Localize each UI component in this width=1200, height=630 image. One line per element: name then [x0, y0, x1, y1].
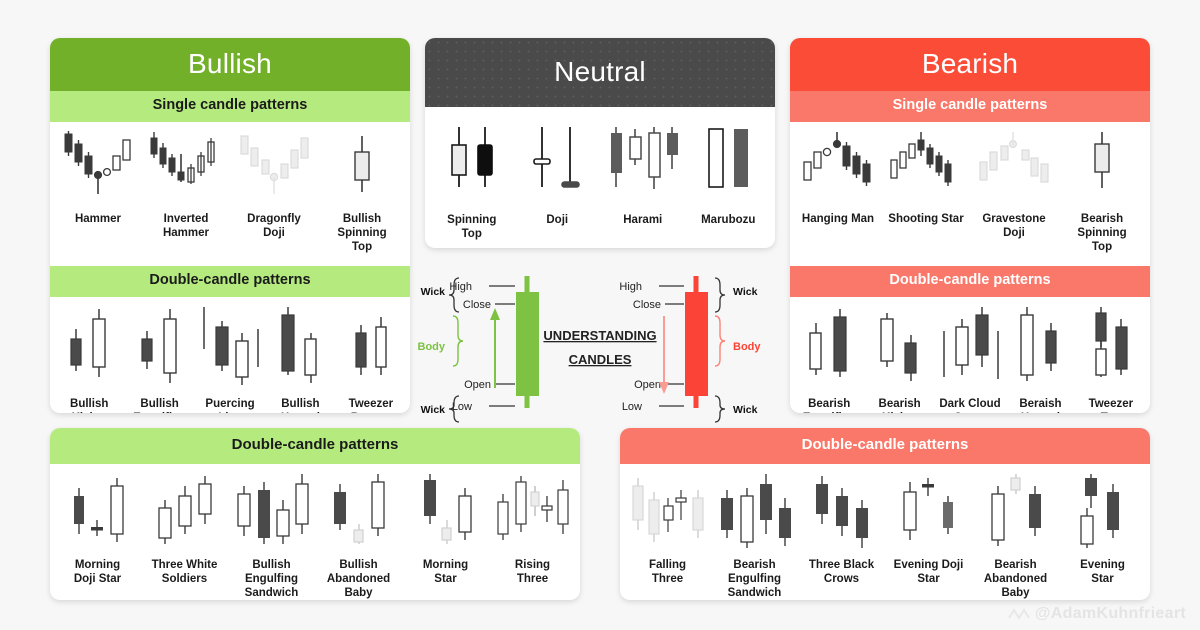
pattern-shooting-star[interactable]: Shooting Star [882, 130, 970, 226]
beraish-harami-icon [1010, 305, 1070, 393]
evening-doji-star-icon [896, 472, 962, 554]
pattern-hammer[interactable]: Hammer [54, 130, 142, 226]
shooting-star-icon [887, 130, 965, 208]
row-bullish-double: Bullish Kicker Bullish Engulfing [50, 297, 410, 413]
pattern-label: Bullish Engulfing Sandwich [228, 558, 315, 600]
row-neutral: Spinning Top Doji [425, 107, 775, 248]
evening-star-icon [1073, 472, 1133, 554]
pattern-bearish-engulfing-sandwich[interactable]: Bearish Engulfing Sandwich [711, 472, 798, 600]
uc-right-wick-top: Wick [733, 286, 758, 298]
row-bullish-single: Hammer [50, 122, 410, 266]
pattern-label: Dragonfly Doji [247, 212, 301, 240]
pattern-label: Evening Star [1080, 558, 1125, 586]
pattern-bearish-engulfing[interactable]: Bearish Engulfing [794, 305, 864, 413]
panel-title-bullish: Bullish [50, 38, 410, 91]
dark-cloud-cover-icon [936, 305, 1004, 393]
gravestone-doji-icon [975, 130, 1053, 208]
bullish-engulfing-sandwich-icon [232, 472, 312, 554]
pattern-label: Bearish Abandoned Baby [972, 558, 1059, 600]
bearish-spinning-top-icon [1072, 130, 1132, 208]
pattern-bearish-spinning-top[interactable]: Bearish Spinning Top [1058, 130, 1146, 254]
row-bearish-single: Hanging Man [790, 122, 1150, 266]
panel-bearish-triple: Double-candle patterns Falling Three [620, 428, 1150, 600]
dragonfly-doji-icon [235, 130, 313, 208]
pattern-label: Marubozu [701, 213, 755, 227]
band-bearish-single: Single candle patterns [790, 91, 1150, 122]
puercing-line-icon [196, 305, 264, 393]
pattern-bullish-engulfing[interactable]: Bullish Engulfing [124, 305, 194, 413]
pattern-morning-doji-star[interactable]: Morning Doji Star [54, 472, 141, 586]
bullish-abandoned-baby-icon [326, 472, 392, 554]
band-bullish-single: Single candle patterns [50, 91, 410, 122]
pattern-beraish-harami[interactable]: Beraish Harami [1005, 305, 1075, 413]
pattern-label: Shooting Star [888, 212, 963, 226]
pattern-label: Bearish Engulfing Sandwich [711, 558, 798, 600]
uc-right-high: High [619, 281, 642, 293]
pattern-label: Puercing Line [205, 397, 254, 413]
pattern-label: Beraish Harami [1019, 397, 1061, 413]
pattern-label: Bearish Spinning Top [1077, 212, 1126, 254]
uc-left-body: Body [418, 341, 446, 353]
uc-right-body: Body [733, 341, 761, 353]
pattern-label: Bullish Abandoned Baby [315, 558, 402, 600]
uc-left-close: Close [463, 299, 491, 311]
pattern-label: Bearish Kicker [879, 397, 921, 413]
pattern-label: Harami [623, 213, 662, 227]
spinning-top-icon [437, 123, 507, 209]
pattern-harami[interactable]: Harami [600, 123, 686, 227]
panel-neutral: Neutral Spinning Top Doji [425, 38, 775, 248]
pattern-marubozu[interactable]: Marubozu [686, 123, 772, 227]
pattern-label: Inverted Hammer [163, 212, 209, 240]
pattern-label: Tweezer Top [1089, 397, 1134, 413]
panel-bearish: Bearish Single candle patterns [790, 38, 1150, 413]
uc-right-low: Low [622, 401, 642, 413]
uc-left-wick-top: Wick [421, 286, 446, 298]
uc-left-low: Low [452, 401, 472, 413]
pattern-dark-cloud-cover[interactable]: Dark Cloud Cover [935, 305, 1005, 413]
tweezer-bottom-icon [343, 305, 399, 393]
uc-left-open: Open [464, 379, 491, 391]
pattern-tweezer-bottom[interactable]: Tweezer Bottom [336, 305, 406, 413]
watermark: @AdamKuhnfrieart [1008, 605, 1186, 623]
pattern-label: Morning Doji Star [74, 558, 121, 586]
uc-left-wick-bottom: Wick [421, 404, 446, 416]
uc-title-1: UNDERSTANDING [543, 328, 656, 343]
pattern-evening-star[interactable]: Evening Star [1059, 472, 1146, 586]
band-bullish-double: Double-candle patterns [50, 266, 410, 297]
bullish-engulfing-icon [130, 305, 190, 393]
bearish-kicker-icon [870, 305, 930, 393]
uc-right-open: Open [634, 379, 661, 391]
panel-bullish-triple: Double-candle patterns Morning Doji Star [50, 428, 580, 600]
pattern-label: Dark Cloud Cover [939, 397, 1000, 413]
pattern-bullish-spinning-top[interactable]: Bullish Spinning Top [318, 130, 406, 254]
pattern-label: Bullish Kicker [70, 397, 108, 413]
pattern-label: Tweezer Bottom [349, 397, 394, 413]
pattern-label: Rising Three [515, 558, 550, 586]
pattern-morning-star[interactable]: Morning Star [402, 472, 489, 586]
pattern-label: Bullish Spinning Top [337, 212, 386, 254]
pattern-puercing-line[interactable]: Puercing Line [195, 305, 265, 413]
marubozu-icon [697, 123, 759, 209]
inverted-hammer-icon [147, 130, 225, 208]
three-white-soldiers-icon [152, 472, 218, 554]
tweezer-top-icon [1083, 305, 1139, 393]
pattern-label: Bullish Harami [281, 397, 320, 413]
pattern-bullish-abandoned-baby[interactable]: Bullish Abandoned Baby [315, 472, 402, 600]
bullish-spinning-top-icon [332, 130, 392, 208]
pattern-gravestone-doji[interactable]: Gravestone Doji [970, 130, 1058, 240]
pattern-label: Evening Doji Star [894, 558, 964, 586]
mountain-logo-icon [1008, 607, 1030, 621]
pattern-falling-three[interactable]: Falling Three [624, 472, 711, 586]
pattern-bullish-engulfing-sandwich[interactable]: Bullish Engulfing Sandwich [228, 472, 315, 600]
pattern-tweezer-top[interactable]: Tweezer Top [1076, 305, 1146, 413]
pattern-rising-three[interactable]: Rising Three [489, 472, 576, 586]
pattern-evening-doji-star[interactable]: Evening Doji Star [885, 472, 972, 586]
understanding-candles-diagram: High Close Open Low Wick Wick Body UNDER… [415, 268, 785, 428]
pattern-spinning-top[interactable]: Spinning Top [429, 123, 515, 241]
pattern-label: Three White Soldiers [152, 558, 218, 586]
bullish-kicker-icon [59, 305, 119, 393]
pattern-label: Morning Star [423, 558, 468, 586]
bearish-abandoned-baby-icon [983, 472, 1049, 554]
harami-icon [605, 123, 681, 209]
three-black-crows-icon [809, 472, 875, 554]
pattern-label: Doji [546, 213, 568, 227]
infographic-canvas: Bullish Single candle patterns [0, 0, 1200, 630]
pattern-bearish-kicker[interactable]: Bearish Kicker [864, 305, 934, 413]
pattern-label: Bearish Engulfing [803, 397, 856, 413]
band-bearish-double: Double-candle patterns [790, 266, 1150, 297]
band-bearish-triple: Double-candle patterns [620, 428, 1150, 464]
pattern-label: Three Black Crows [809, 558, 874, 586]
panel-bullish: Bullish Single candle patterns [50, 38, 410, 413]
bearish-engulfing-sandwich-icon [715, 472, 795, 554]
morning-star-icon [416, 472, 476, 554]
pattern-label: Gravestone Doji [982, 212, 1045, 240]
pattern-label: Hanging Man [802, 212, 874, 226]
pattern-bullish-kicker[interactable]: Bullish Kicker [54, 305, 124, 413]
pattern-three-black-crows[interactable]: Three Black Crows [798, 472, 885, 586]
pattern-label: Spinning Top [447, 213, 496, 241]
hammer-icon [59, 130, 137, 208]
falling-three-icon [628, 472, 708, 554]
understanding-candles-svg: High Close Open Low Wick Wick Body UNDER… [415, 268, 785, 428]
hanging-man-icon [799, 130, 877, 208]
bearish-engulfing-icon [799, 305, 859, 393]
panel-title-bearish: Bearish [790, 38, 1150, 91]
uc-right-close: Close [633, 299, 661, 311]
uc-right-wick-bottom: Wick [733, 404, 758, 416]
pattern-label: Falling Three [649, 558, 686, 586]
morning-doji-star-icon [65, 472, 131, 554]
panel-title-neutral: Neutral [425, 38, 775, 107]
pattern-three-white-soldiers[interactable]: Three White Soldiers [141, 472, 228, 586]
rising-three-icon [493, 472, 573, 554]
row-bearish-double: Bearish Engulfing Bearish Kicker [790, 297, 1150, 413]
pattern-doji[interactable]: Doji [515, 123, 601, 227]
pattern-hanging-man[interactable]: Hanging Man [794, 130, 882, 226]
uc-title-2: CANDLES [569, 352, 632, 367]
pattern-dragonfly-doji[interactable]: Dragonfly Doji [230, 130, 318, 240]
pattern-bullish-harami[interactable]: Bullish Harami [265, 305, 335, 413]
doji-icon [522, 123, 592, 209]
pattern-label: Hammer [75, 212, 121, 226]
bullish-harami-icon [270, 305, 330, 393]
pattern-inverted-hammer[interactable]: Inverted Hammer [142, 130, 230, 240]
row-bullish-triple: Morning Doji Star Three White Soldiers [50, 464, 580, 601]
watermark-handle: @AdamKuhnfrieart [1035, 605, 1186, 623]
pattern-label: Bullish Engulfing [133, 397, 186, 413]
band-bullish-triple: Double-candle patterns [50, 428, 580, 464]
row-bearish-triple: Falling Three Bearish Engulfing Sandwich [620, 464, 1150, 601]
uc-left-high: High [449, 281, 472, 293]
pattern-bearish-abandoned-baby[interactable]: Bearish Abandoned Baby [972, 472, 1059, 600]
